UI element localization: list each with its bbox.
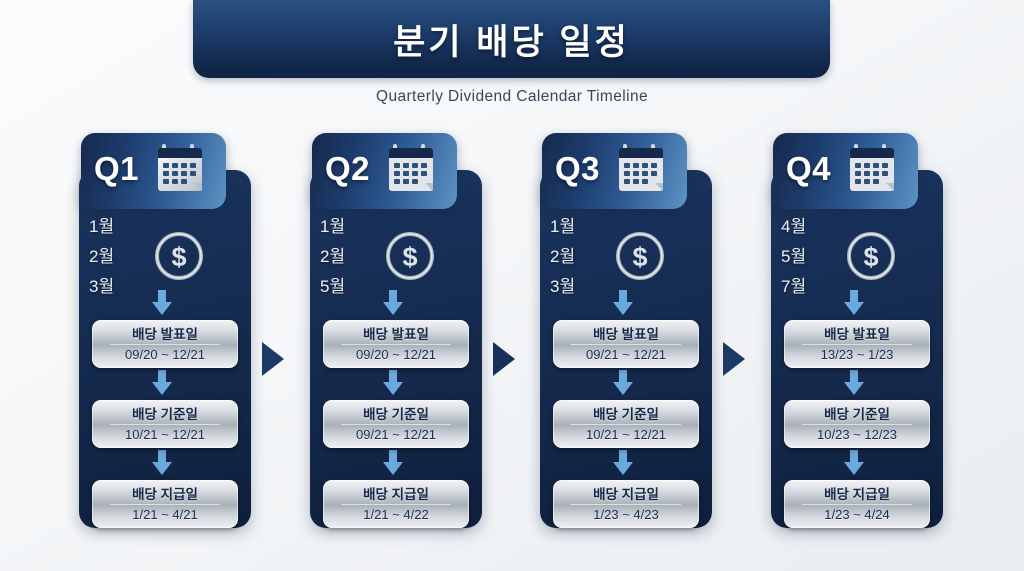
months-list: 1월 2월 3월 <box>89 212 114 302</box>
month-item: 2월 <box>550 242 575 272</box>
divider <box>802 424 912 425</box>
info-box-value: 09/20 ~ 12/21 <box>356 347 436 363</box>
calendar-icon <box>156 141 218 201</box>
info-box-value: 1/23 ~ 4/23 <box>593 507 658 523</box>
month-item: 1월 <box>550 212 575 242</box>
info-box-record-date[interactable]: 배당 기준일 10/21 ~ 12/21 <box>553 400 699 448</box>
months-list: 1월 2월 5월 <box>320 212 345 302</box>
info-box-label: 배당 발표일 <box>824 326 890 343</box>
info-box-value: 09/20 ~ 12/21 <box>125 347 205 363</box>
divider <box>110 504 220 505</box>
dollar-coin-icon: $ <box>153 230 205 282</box>
info-box-label: 배당 지급일 <box>132 486 198 503</box>
info-box-payment-date[interactable]: 배당 지급일 1/23 ~ 4/23 <box>553 480 699 528</box>
month-item: 7월 <box>781 272 806 302</box>
down-arrow-icon <box>380 370 406 396</box>
info-box-value: 13/23 ~ 1/23 <box>821 347 894 363</box>
info-box-announcement[interactable]: 배당 발표일 09/20 ~ 12/21 <box>92 320 238 368</box>
right-triangle-connector-icon <box>723 342 745 376</box>
info-box-label: 배당 발표일 <box>132 326 198 343</box>
svg-text:$: $ <box>402 242 417 272</box>
title-banner: 분기 배당 일정 <box>193 0 830 78</box>
info-box-value: 09/21 ~ 12/21 <box>356 427 436 443</box>
info-box-label: 배당 기준일 <box>363 406 429 423</box>
info-box-value: 10/23 ~ 12/23 <box>817 427 897 443</box>
quarter-card-q2[interactable]: Q2 1월 2월 5월 <box>304 130 482 530</box>
quarter-card-q4[interactable]: Q4 4월 5월 7월 <box>765 130 943 530</box>
down-arrow-icon <box>610 370 636 396</box>
quarter-card-q3[interactable]: Q3 1월 2월 3월 <box>534 130 712 530</box>
info-box-record-date[interactable]: 배당 기준일 10/23 ~ 12/23 <box>784 400 930 448</box>
svg-text:$: $ <box>171 242 186 272</box>
down-arrow-icon <box>610 450 636 476</box>
calendar-icon <box>617 141 679 201</box>
dollar-coin-icon: $ <box>845 230 897 282</box>
month-item: 1월 <box>320 212 345 242</box>
month-item: 2월 <box>320 242 345 272</box>
info-box-payment-date[interactable]: 배당 지급일 1/21 ~ 4/21 <box>92 480 238 528</box>
month-item: 2월 <box>89 242 114 272</box>
months-list: 4월 5월 7월 <box>781 212 806 302</box>
divider <box>802 344 912 345</box>
svg-text:$: $ <box>863 242 878 272</box>
info-box-announcement[interactable]: 배당 발표일 13/23 ~ 1/23 <box>784 320 930 368</box>
divider <box>802 504 912 505</box>
info-box-label: 배당 지급일 <box>824 486 890 503</box>
down-arrow-icon <box>841 370 867 396</box>
divider <box>341 424 451 425</box>
card-header-badge: Q4 <box>773 133 918 209</box>
down-arrow-icon <box>380 290 406 316</box>
page-title: 분기 배당 일정 <box>393 14 630 65</box>
calendar-icon <box>387 141 449 201</box>
quarter-card-q1[interactable]: Q1 <box>73 130 251 530</box>
info-box-value: 10/21 ~ 12/21 <box>125 427 205 443</box>
months-list: 1월 2월 3월 <box>550 212 575 302</box>
info-box-value: 10/21 ~ 12/21 <box>586 427 666 443</box>
divider <box>571 424 681 425</box>
card-header-badge: Q3 <box>542 133 687 209</box>
month-item: 5월 <box>320 272 345 302</box>
down-arrow-icon <box>149 370 175 396</box>
info-box-label: 배당 발표일 <box>363 326 429 343</box>
month-item: 3월 <box>89 272 114 302</box>
info-box-record-date[interactable]: 배당 기준일 10/21 ~ 12/21 <box>92 400 238 448</box>
divider <box>110 344 220 345</box>
quarter-label: Q4 <box>786 150 831 188</box>
info-box-payment-date[interactable]: 배당 지급일 1/23 ~ 4/24 <box>784 480 930 528</box>
month-item: 4월 <box>781 212 806 242</box>
info-box-announcement[interactable]: 배당 발표일 09/20 ~ 12/21 <box>323 320 469 368</box>
divider <box>110 424 220 425</box>
info-box-announcement[interactable]: 배당 발표일 09/21 ~ 12/21 <box>553 320 699 368</box>
quarter-cards-row: Q1 <box>0 130 1024 540</box>
divider <box>341 504 451 505</box>
card-header-badge: Q1 <box>81 133 226 209</box>
month-item: 5월 <box>781 242 806 272</box>
info-box-label: 배당 발표일 <box>593 326 659 343</box>
down-arrow-icon <box>149 290 175 316</box>
divider <box>341 344 451 345</box>
info-box-value: 1/21 ~ 4/21 <box>132 507 197 523</box>
dollar-coin-icon: $ <box>614 230 666 282</box>
month-item: 3월 <box>550 272 575 302</box>
info-box-label: 배당 지급일 <box>363 486 429 503</box>
card-header-badge: Q2 <box>312 133 457 209</box>
right-triangle-connector-icon <box>262 342 284 376</box>
divider <box>571 344 681 345</box>
info-box-value: 1/21 ~ 4/22 <box>363 507 428 523</box>
quarter-label: Q1 <box>94 150 139 188</box>
info-box-record-date[interactable]: 배당 기준일 09/21 ~ 12/21 <box>323 400 469 448</box>
dollar-coin-icon: $ <box>384 230 436 282</box>
calendar-icon <box>848 141 910 201</box>
info-box-label: 배당 기준일 <box>593 406 659 423</box>
info-box-value: 1/23 ~ 4/24 <box>824 507 889 523</box>
right-triangle-connector-icon <box>493 342 515 376</box>
info-box-label: 배당 지급일 <box>593 486 659 503</box>
month-item: 1월 <box>89 212 114 242</box>
down-arrow-icon <box>610 290 636 316</box>
down-arrow-icon <box>149 450 175 476</box>
down-arrow-icon <box>380 450 406 476</box>
info-box-value: 09/21 ~ 12/21 <box>586 347 666 363</box>
svg-text:$: $ <box>632 242 647 272</box>
divider <box>571 504 681 505</box>
info-box-label: 배당 기준일 <box>824 406 890 423</box>
down-arrow-icon <box>841 450 867 476</box>
down-arrow-icon <box>841 290 867 316</box>
info-box-label: 배당 기준일 <box>132 406 198 423</box>
quarter-label: Q3 <box>555 150 600 188</box>
quarter-label: Q2 <box>325 150 370 188</box>
page-subtitle: Quarterly Dividend Calendar Timeline <box>0 88 1024 106</box>
info-box-payment-date[interactable]: 배당 지급일 1/21 ~ 4/22 <box>323 480 469 528</box>
